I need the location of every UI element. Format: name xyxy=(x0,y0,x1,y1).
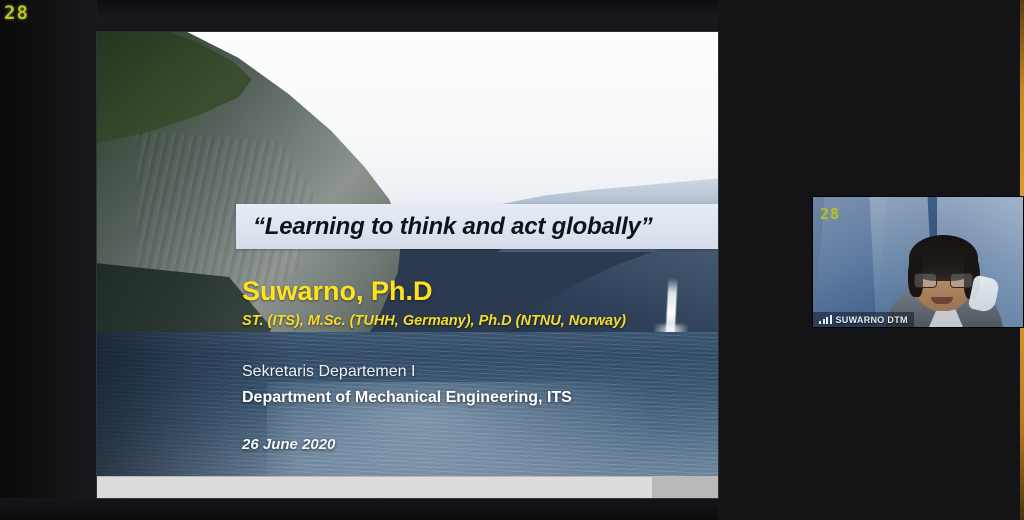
recording-timer: 28 xyxy=(4,2,29,24)
slide-quote-text: “Learning to think and act globally” xyxy=(253,213,653,241)
slide-bottom-bar xyxy=(97,476,718,498)
slide-photo-water-shadow xyxy=(97,332,297,498)
participant-video-tile[interactable]: 28 SUWARNO DTM xyxy=(812,196,1024,328)
slide-presenter-credentials: ST. (ITS), M.Sc. (TUHH, Germany), Ph.D (… xyxy=(242,313,626,329)
slide-presenter-department: Department of Mechanical Engineering, IT… xyxy=(242,389,572,407)
glasses-bridge xyxy=(937,279,950,281)
slide-presenter-role: Sekretaris Departemen I xyxy=(242,363,415,381)
participant-name-bar: SUWARNO DTM xyxy=(813,312,914,327)
participant-name-label: SUWARNO DTM xyxy=(836,315,908,325)
window-left-border xyxy=(0,0,97,520)
slide-presentation-date: 26 June 2020 xyxy=(242,436,335,453)
slide-bottom-bar-segment xyxy=(652,477,718,498)
slide-presenter-name: Suwarno, Ph.D xyxy=(242,276,433,307)
slide-quote-banner: “Learning to think and act globally” xyxy=(236,204,718,249)
video-conference-screen: 28 “Learning to think and act globally” … xyxy=(0,0,1024,520)
glasses-lens-right xyxy=(950,273,973,288)
shared-presentation-slide[interactable]: “Learning to think and act globally” Suw… xyxy=(97,32,718,498)
signal-bars-icon xyxy=(819,315,832,324)
glasses-lens-left xyxy=(914,273,937,288)
video-overlay-timer: 28 xyxy=(820,205,840,223)
participant-mouth xyxy=(931,297,953,304)
glasses-icon xyxy=(914,273,973,288)
